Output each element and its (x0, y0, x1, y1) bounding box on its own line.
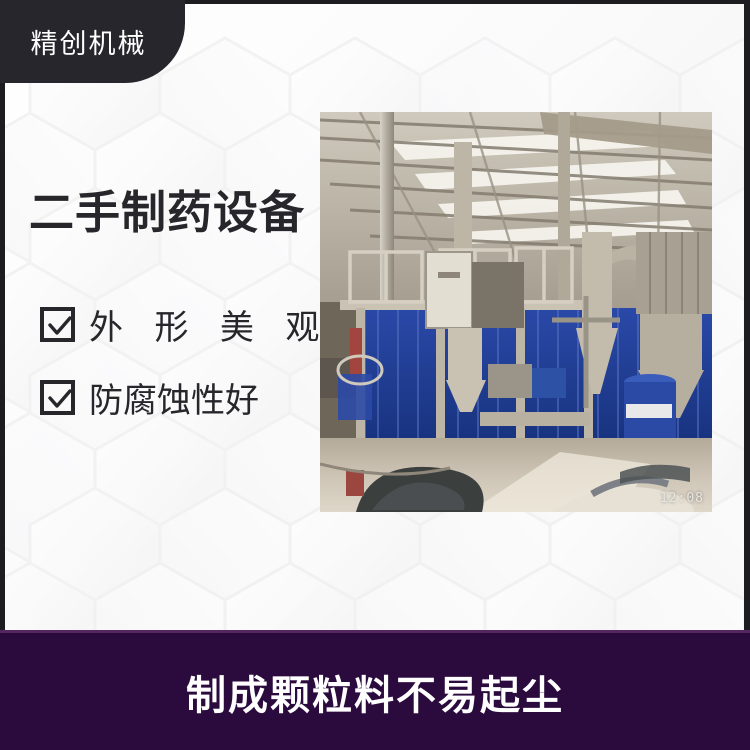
list-item: 防腐蚀性好 (40, 373, 330, 422)
feature-label: 外 形 美 观 (89, 300, 330, 349)
brand-badge: 精创机械 (0, 0, 185, 83)
brand-name-label: 精创机械 (31, 22, 147, 61)
list-item: 外 形 美 观 (40, 300, 330, 349)
bottom-banner: 制成颗粒料不易起尘 (0, 630, 750, 750)
feature-label: 防腐蚀性好 (89, 373, 259, 422)
factory-interior-illustration (320, 112, 712, 512)
page-title: 二手制药设备 (29, 176, 305, 241)
checkbox-checked-icon (40, 307, 75, 342)
product-photo: 12:08 (320, 112, 712, 512)
photo-timestamp: 12:08 (660, 491, 704, 506)
banner-headline: 制成颗粒料不易起尘 (186, 663, 564, 721)
checkbox-checked-icon (40, 380, 75, 415)
feature-list: 外 形 美 观 防腐蚀性好 (40, 300, 330, 446)
promo-banner-image: 精创机械 二手制药设备 外 形 美 观 防腐蚀性好 (0, 0, 750, 750)
